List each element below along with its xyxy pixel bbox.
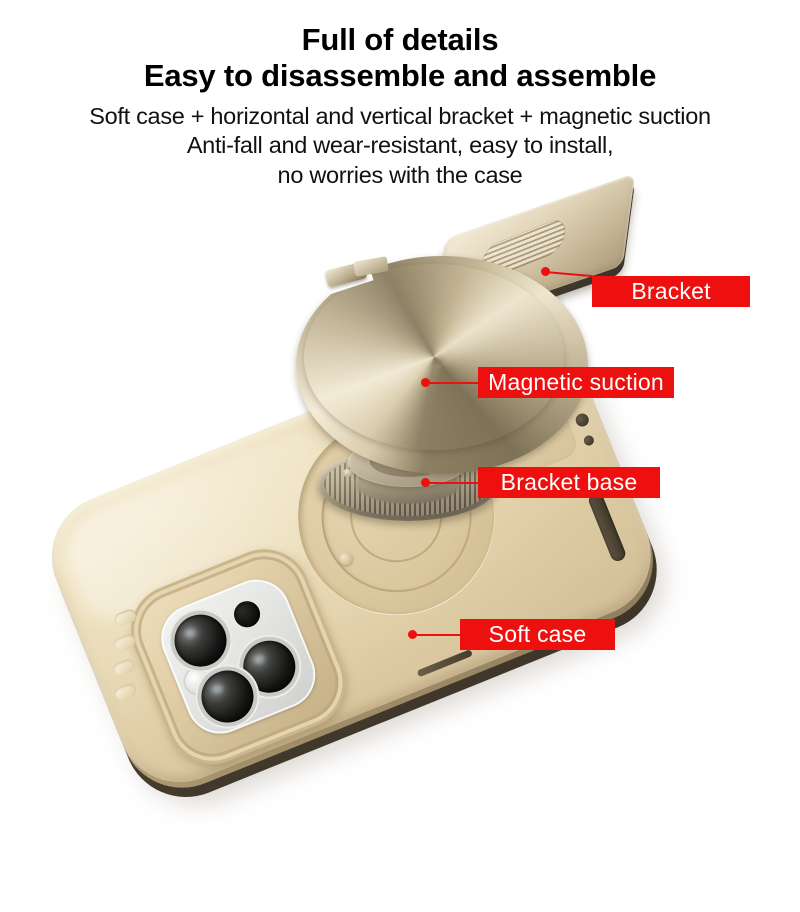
product-infographic: Full of details Easy to disassemble and … <box>0 0 800 800</box>
lens-glint <box>252 654 266 666</box>
lens-glint <box>210 683 224 695</box>
bracket-base-pin <box>342 469 353 477</box>
lidar-sensor <box>230 597 264 631</box>
callout-label-magnetic-suction: Magnetic suction <box>478 367 674 398</box>
mic-hole-upper <box>574 412 591 429</box>
vent-slot <box>112 632 137 652</box>
camera-lens <box>167 607 235 675</box>
callout-label-bracket-base: Bracket base <box>478 467 660 498</box>
lens-glint <box>183 627 197 639</box>
callout-leader-magnetic-suction <box>425 382 480 384</box>
callout-leader-bracket-base <box>425 482 480 484</box>
camera-plate <box>151 569 325 743</box>
mic-hole-lower <box>582 434 595 447</box>
ring-inner-band <box>304 264 564 450</box>
magnetic-ring-assembly <box>296 250 556 450</box>
side-button-cutout <box>587 491 628 563</box>
callout-label-bracket: Bracket <box>592 276 750 307</box>
vent-slot <box>111 658 136 678</box>
product-photo <box>0 0 800 800</box>
vent-slot <box>113 682 138 702</box>
callout-label-soft-case: Soft case <box>460 619 615 650</box>
callout-leader-soft-case <box>412 634 462 636</box>
